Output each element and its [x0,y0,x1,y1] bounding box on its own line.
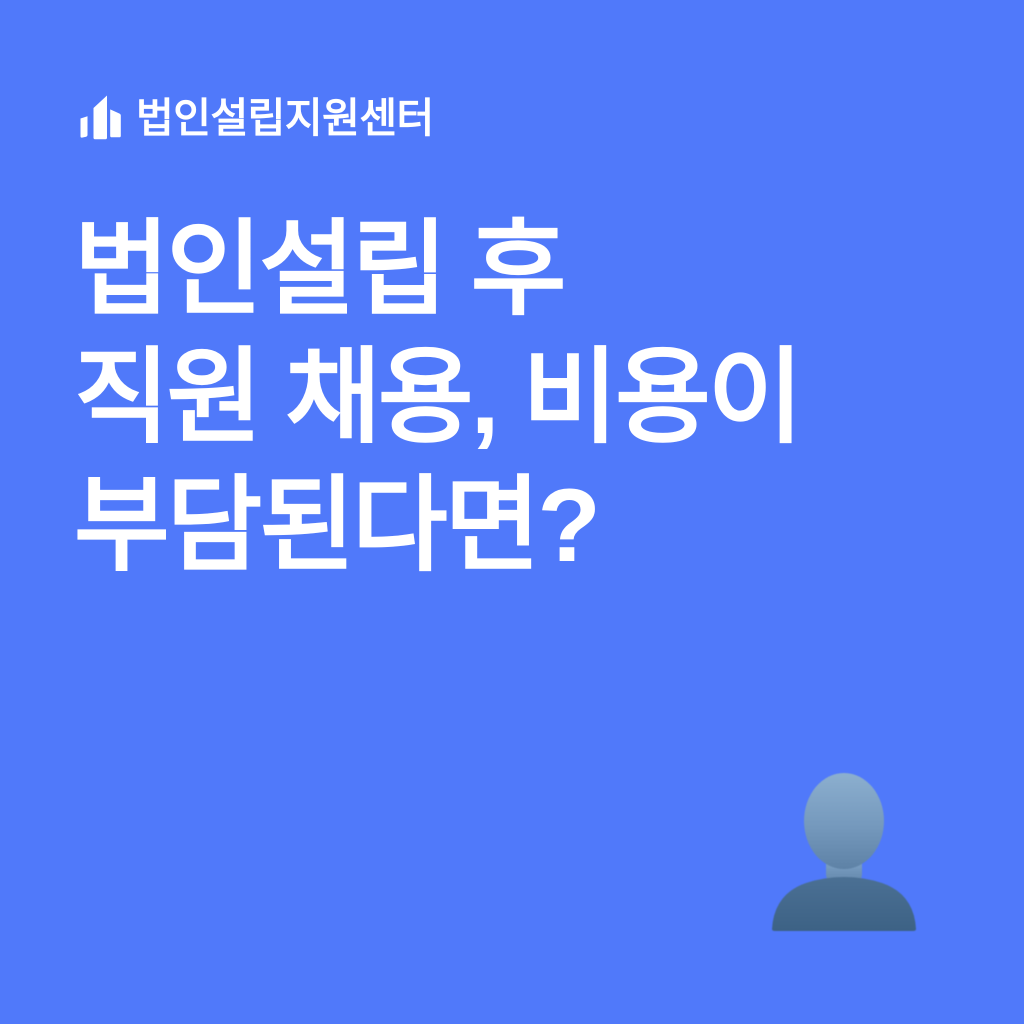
headline-line-2: 직원 채용, 비용이 [74,334,954,462]
building-skyline-icon [78,92,126,144]
brand-name: 법인설립지원센터 [136,98,434,139]
headline: 법인설립 후 직원 채용, 비용이 부담된다면? [74,206,954,590]
person-silhouette-icon [762,768,926,936]
promo-card: 법인설립지원센터 법인설립 후 직원 채용, 비용이 부담된다면? [0,0,1024,1024]
headline-line-3: 부담된다면? [74,462,954,590]
headline-line-1: 법인설립 후 [74,206,954,334]
brand-lockup: 법인설립지원센터 [78,88,434,148]
